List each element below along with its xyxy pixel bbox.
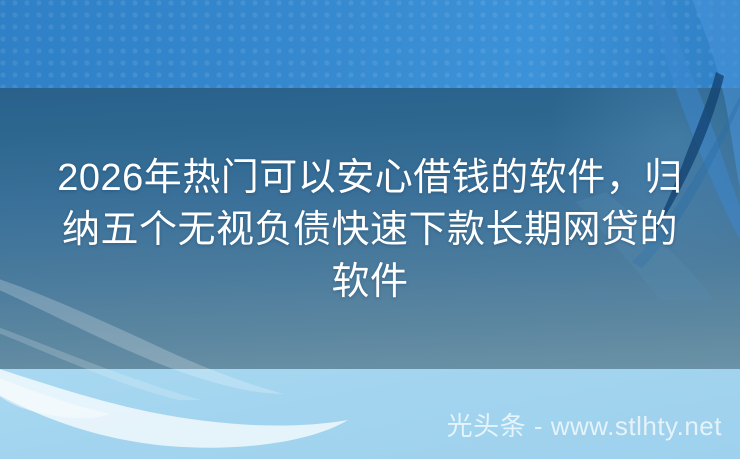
background-band-top: [0, 0, 740, 88]
promo-banner: 2026年热门可以安心借钱的软件，归 纳五个无视负债快速下款长期网贷的 软件 光…: [0, 0, 740, 459]
site-watermark: 光头条 - www.stlhty.net: [447, 412, 722, 440]
dot-grid-pattern: [0, 0, 740, 88]
page-title: 2026年热门可以安心借钱的软件，归 纳五个无视负债快速下款长期网贷的 软件: [40, 152, 700, 308]
